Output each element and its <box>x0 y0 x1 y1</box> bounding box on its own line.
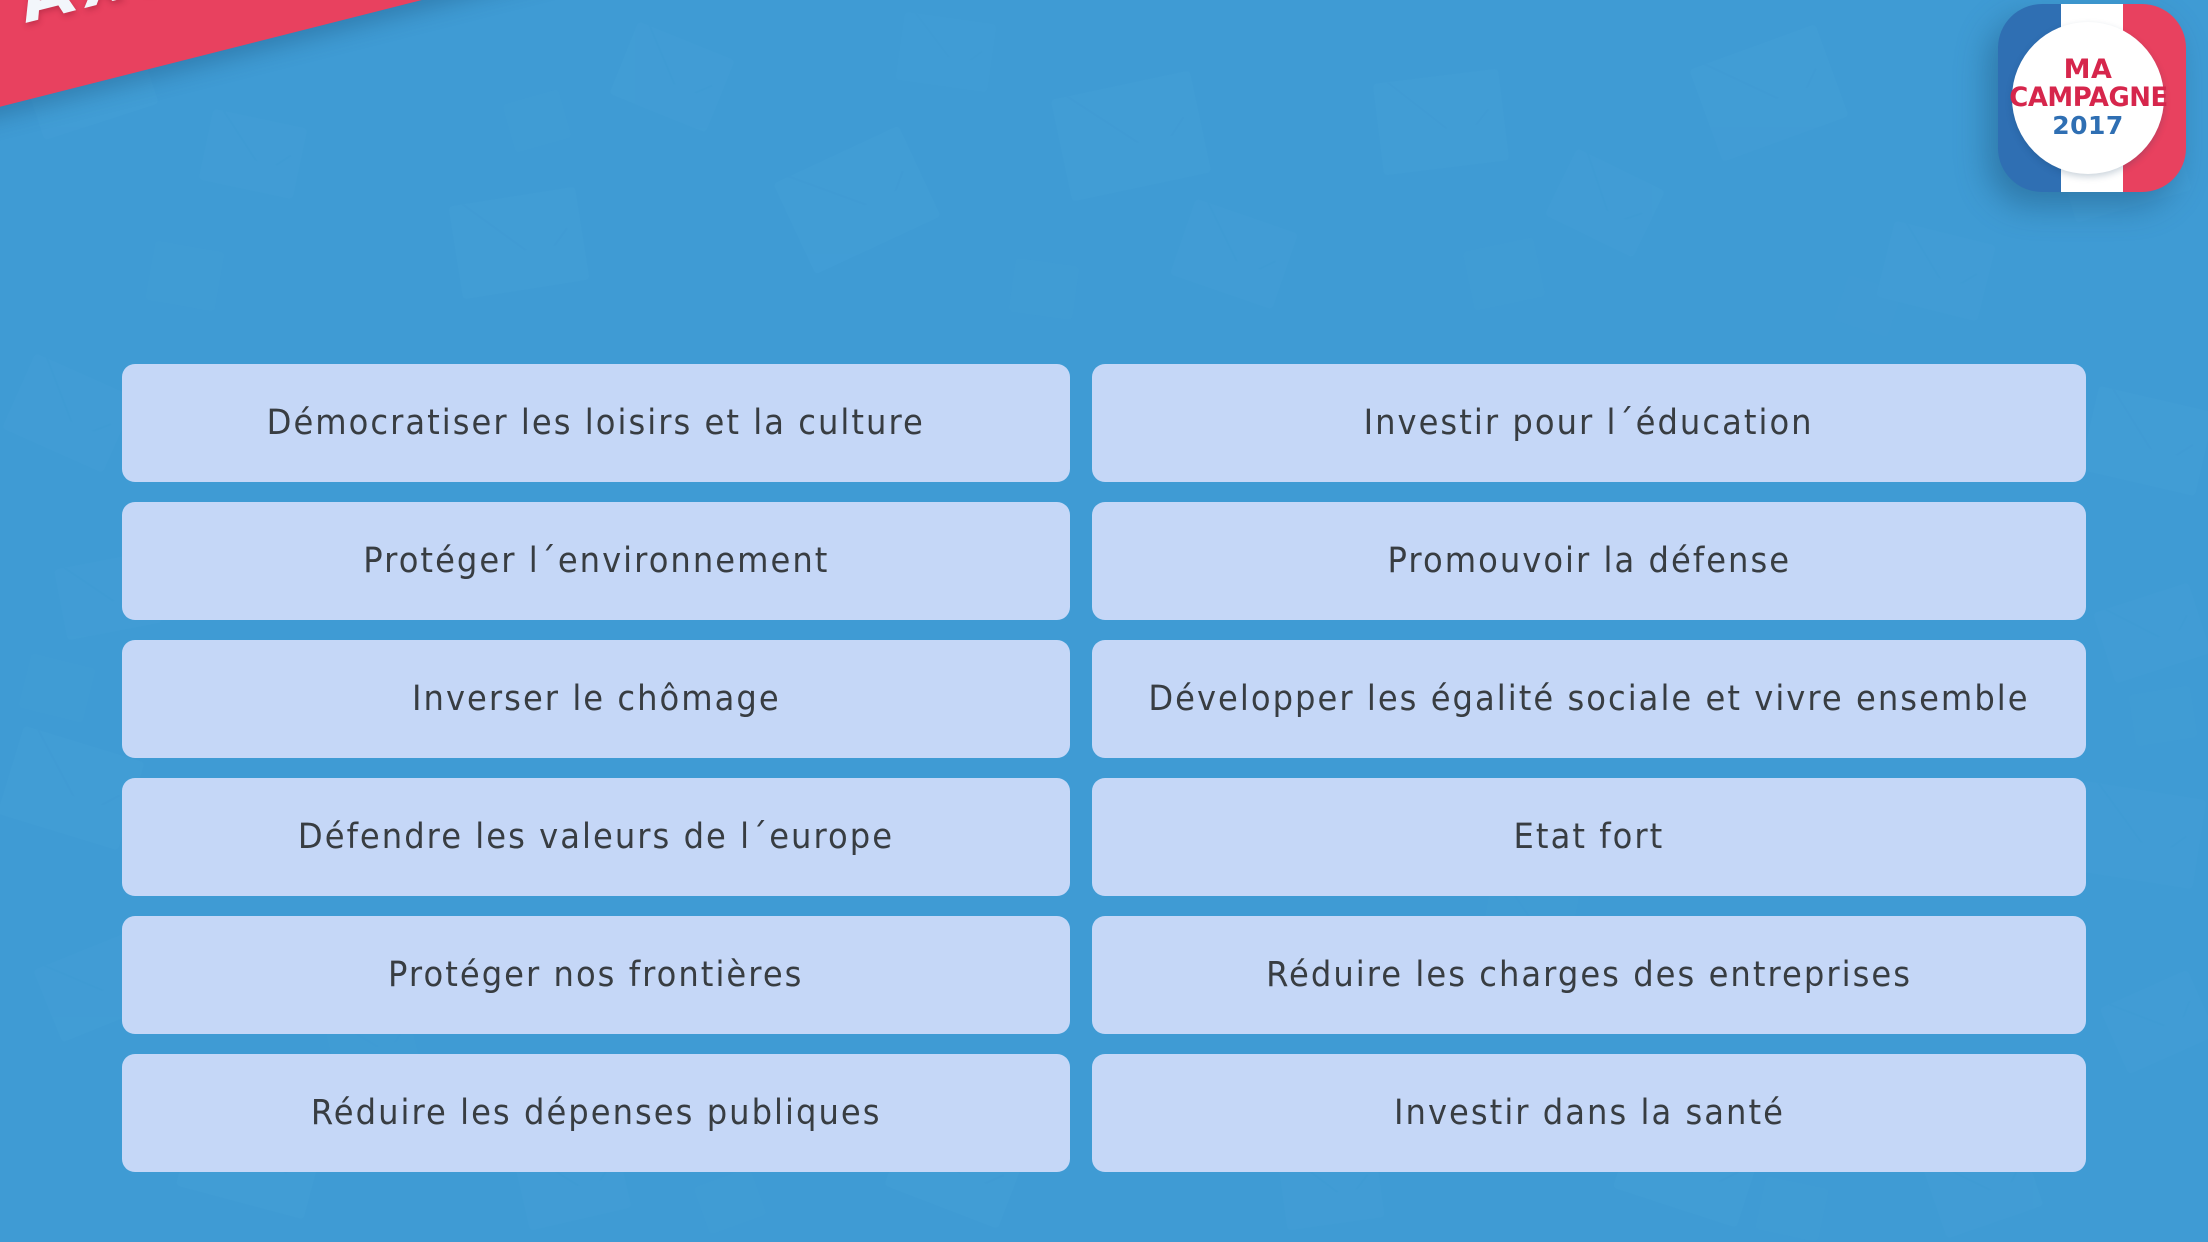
envelope-body <box>2093 582 2208 683</box>
campaign-axis-label: Protéger nos frontières <box>388 955 803 995</box>
envelope-flap <box>1181 199 1298 278</box>
envelope-icon <box>199 109 308 199</box>
envelope-icon <box>2080 386 2208 496</box>
envelope-body <box>1876 221 1996 322</box>
envelope-flap <box>2093 582 2201 654</box>
campaign-axis-label: Investir dans la santé <box>1394 1093 1785 1133</box>
envelope-body <box>609 21 735 132</box>
campaign-axis-button[interactable]: Protéger nos frontières <box>122 916 1070 1034</box>
envelope-icon <box>896 12 997 92</box>
page-title: Axes de Campagne <box>10 0 845 39</box>
logo-year: 2017 <box>2052 112 2124 141</box>
envelope-icon <box>2 353 136 473</box>
envelope-flap <box>1558 148 1665 230</box>
logo-line-ma: MA <box>2064 56 2113 83</box>
envelope-flap <box>2088 386 2208 461</box>
campaign-axis-button[interactable]: Démocratiser les loisirs et la culture <box>122 364 1070 482</box>
envelope-flap <box>16 353 136 441</box>
campaign-axis-label: Inverser le chômage <box>412 679 781 719</box>
envelope-body <box>2100 970 2208 1075</box>
envelope-icon <box>773 126 940 275</box>
campaign-axes-grid: Démocratiser les loisirs et la cultureIn… <box>122 364 2086 1172</box>
envelope-icon <box>2100 970 2208 1075</box>
paper-square-shape <box>2128 685 2197 746</box>
paper-square-shape <box>1463 237 1546 311</box>
envelope-flap <box>2100 970 2205 1047</box>
envelope-flap <box>1689 24 1834 123</box>
envelope-flap <box>1373 69 1505 137</box>
envelope-flap <box>621 21 734 102</box>
logo-line-campagne: CAMPAGNE <box>2009 83 2167 112</box>
ma-campagne-logo: MA CAMPAGNE 2017 <box>1998 4 2186 192</box>
envelope-flap <box>1884 221 1996 290</box>
envelope-body <box>1545 148 1666 257</box>
campaign-axes-screen: Axes de Campagne MA CAMPAGNE 2017 Démocr… <box>0 0 2208 1242</box>
campaign-axis-label: Protéger l´environnement <box>363 541 829 581</box>
envelope-body <box>2080 386 2208 496</box>
campaign-axis-label: Développer les égalité sociale et vivre … <box>1148 679 2029 719</box>
campaign-axis-label: Etat fort <box>1514 817 1665 857</box>
envelope-flap <box>900 12 997 64</box>
campaign-axis-label: Défendre les valeurs de l´europe <box>298 817 894 857</box>
envelope-body <box>199 109 308 199</box>
envelope-icon <box>1373 69 1509 176</box>
envelope-icon <box>1051 70 1212 201</box>
campaign-axis-label: Démocratiser les loisirs et la culture <box>267 403 925 443</box>
envelope-body <box>773 126 940 275</box>
envelope-body <box>448 187 589 300</box>
envelope-flap <box>1051 70 1202 159</box>
campaign-axis-button[interactable]: Protéger l´environnement <box>122 502 1070 620</box>
campaign-axis-label: Réduire les charges des entreprises <box>1266 955 1912 995</box>
envelope-flap <box>205 109 308 170</box>
paper-square-shape <box>18 653 96 723</box>
envelope-body <box>1051 70 1212 201</box>
campaign-axis-button[interactable]: Réduire les dépenses publiques <box>122 1054 1070 1172</box>
envelope-icon <box>1876 221 1996 322</box>
envelope-body <box>1373 69 1509 176</box>
envelope-icon <box>1170 199 1298 310</box>
paper-square-shape <box>1755 1176 1829 1242</box>
envelope-icon <box>609 21 735 132</box>
campaign-axis-button[interactable]: Investir dans la santé <box>1092 1054 2086 1172</box>
campaign-axis-label: Investir pour l´éducation <box>1364 403 1814 443</box>
envelope-body <box>896 12 997 92</box>
paper-square-shape <box>502 89 572 153</box>
paper-square-shape <box>1009 258 1080 320</box>
envelope-body <box>2070 781 2207 889</box>
campaign-axis-button[interactable]: Inverser le chômage <box>122 640 1070 758</box>
paper-square-shape <box>1834 275 1902 338</box>
envelope-body <box>1689 24 1848 162</box>
envelope-icon <box>2070 781 2207 889</box>
paper-square-shape <box>145 240 224 311</box>
envelope-icon <box>1545 148 1666 257</box>
envelope-icon <box>1689 24 1848 162</box>
paper-square-shape <box>693 1167 766 1235</box>
campaign-axis-button[interactable]: Développer les égalité sociale et vivre … <box>1092 640 2086 758</box>
campaign-axis-button[interactable]: Défendre les valeurs de l´europe <box>122 778 1070 896</box>
campaign-axis-button[interactable]: Investir pour l´éducation <box>1092 364 2086 482</box>
logo-circle: MA CAMPAGNE 2017 <box>2012 22 2164 174</box>
campaign-axis-label: Promouvoir la défense <box>1387 541 1791 581</box>
envelope-flap <box>773 126 923 237</box>
envelope-flap <box>448 187 583 261</box>
envelope-body <box>2 353 136 473</box>
envelope-icon <box>2093 582 2208 683</box>
campaign-axis-label: Réduire les dépenses publiques <box>311 1093 882 1133</box>
campaign-axis-button[interactable]: Réduire les charges des entreprises <box>1092 916 2086 1034</box>
envelope-body <box>1170 199 1298 310</box>
envelope-icon <box>448 187 589 300</box>
envelope-flap <box>2076 781 2207 852</box>
page-title-banner: Axes de Campagne <box>0 0 1420 130</box>
campaign-axis-button[interactable]: Etat fort <box>1092 778 2086 896</box>
campaign-axis-button[interactable]: Promouvoir la défense <box>1092 502 2086 620</box>
